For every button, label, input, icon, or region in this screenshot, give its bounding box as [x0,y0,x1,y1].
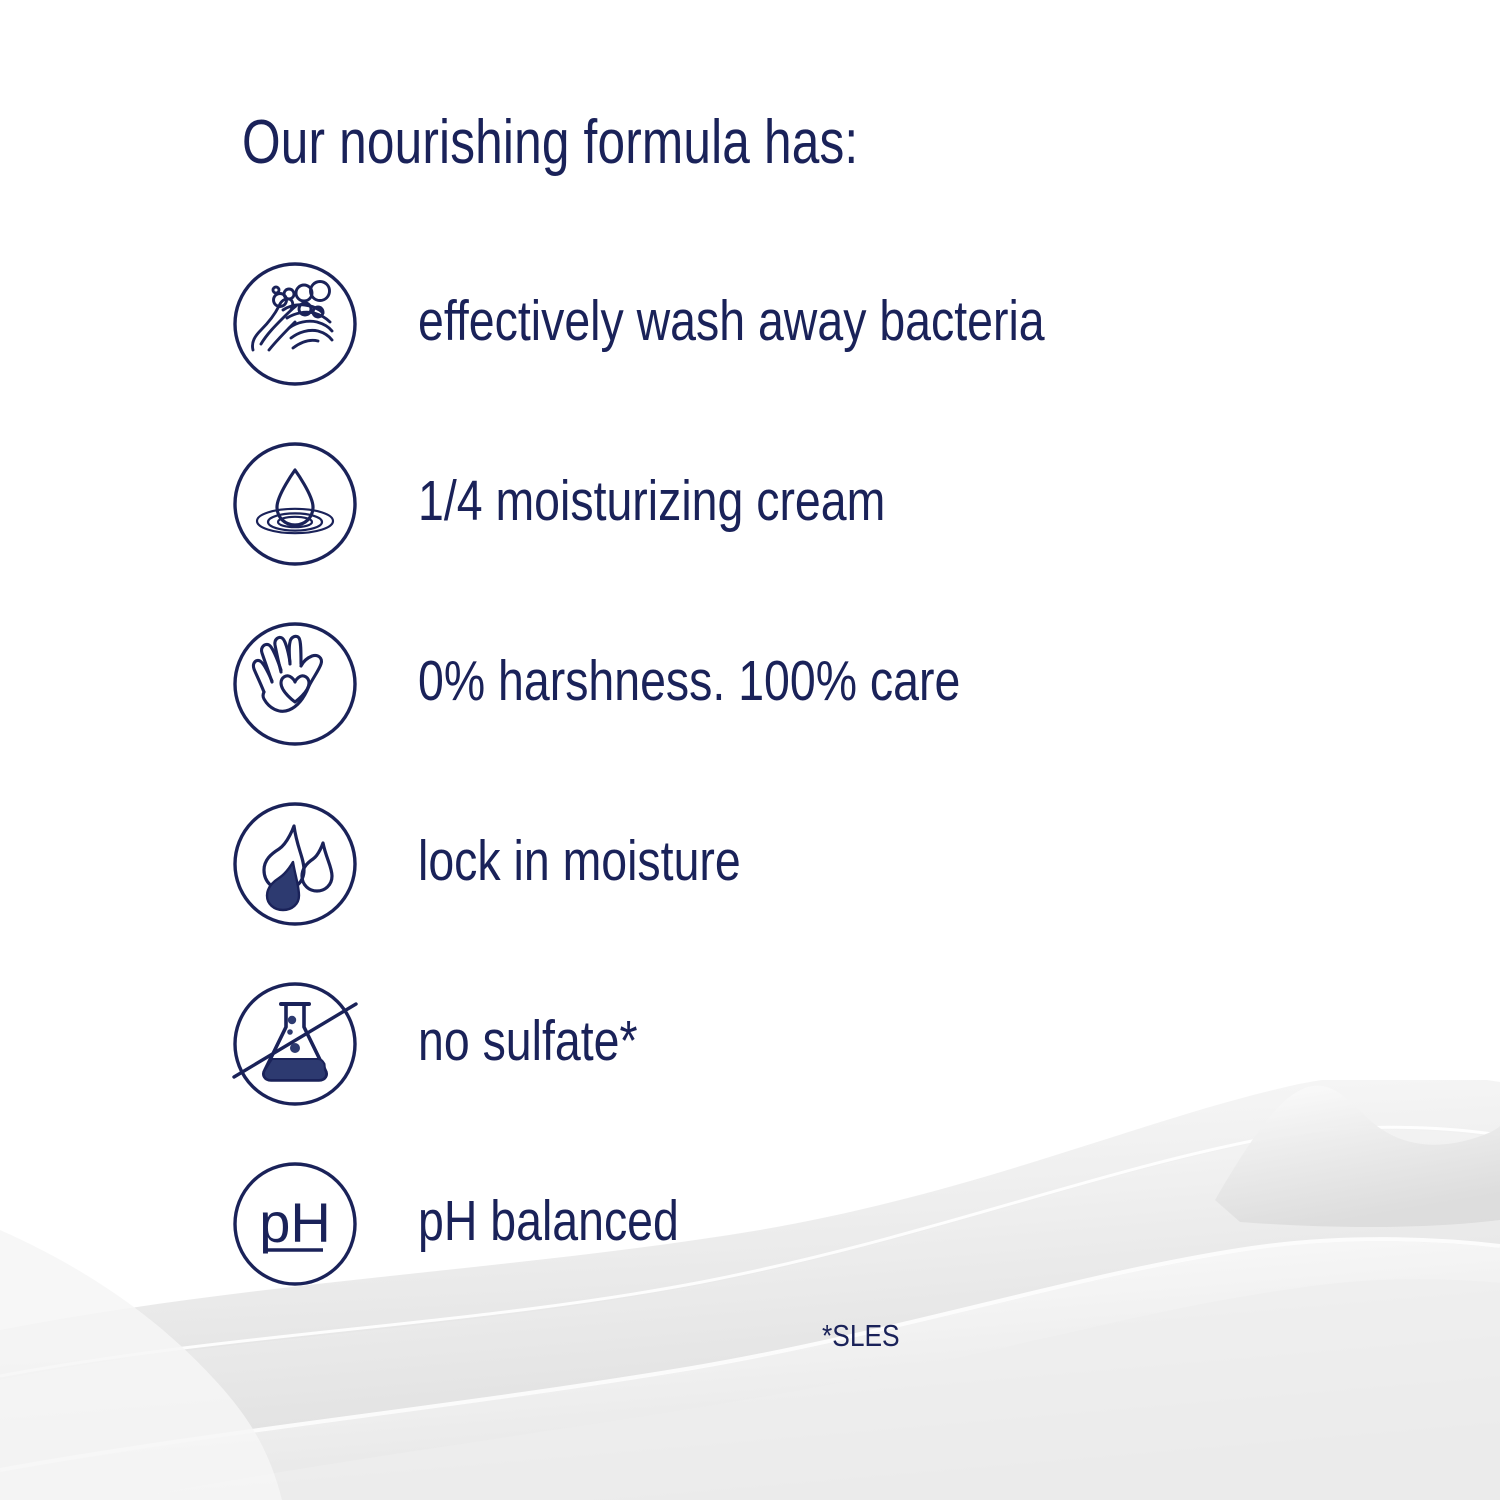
benefit-row: 1/4 moisturizing cream [231,440,1381,568]
benefit-row: lock in moisture [231,800,1381,928]
washing-hands-bubbles-icon [231,260,359,388]
benefit-row: effectively wash away bacteria [231,260,1381,388]
benefit-row: pH pH balanced [231,1160,1381,1288]
cream-swirl-decoration [0,1080,1500,1500]
three-droplets-icon [231,800,359,928]
hand-with-heart-icon [231,620,359,748]
page-title: Our nourishing formula has: [242,112,858,174]
benefit-label: 1/4 moisturizing cream [418,472,885,536]
benefit-row: no sulfate* [231,980,1381,1108]
benefit-label: no sulfate* [418,1012,638,1076]
benefit-label: pH balanced [418,1192,679,1256]
ph-balanced-icon: pH [231,1160,359,1288]
footnote: *SLES [822,1318,900,1354]
no-sulfate-crossed-flask-icon [231,980,359,1108]
benefit-label: effectively wash away bacteria [418,292,1045,356]
cream-fold-shadow [120,1279,1500,1500]
ph-icon-text: pH [259,1191,331,1254]
cream-swirl-svg [0,1080,1500,1500]
benefit-label: 0% harshness. 100% care [418,652,960,716]
benefit-label: lock in moisture [418,832,741,896]
cream-shape-back [0,1080,1500,1500]
water-droplet-ripple-icon [231,440,359,568]
product-benefits-infographic: Our nourishing formula has: [0,0,1500,1500]
benefit-row: 0% harshness. 100% care [231,620,1381,748]
